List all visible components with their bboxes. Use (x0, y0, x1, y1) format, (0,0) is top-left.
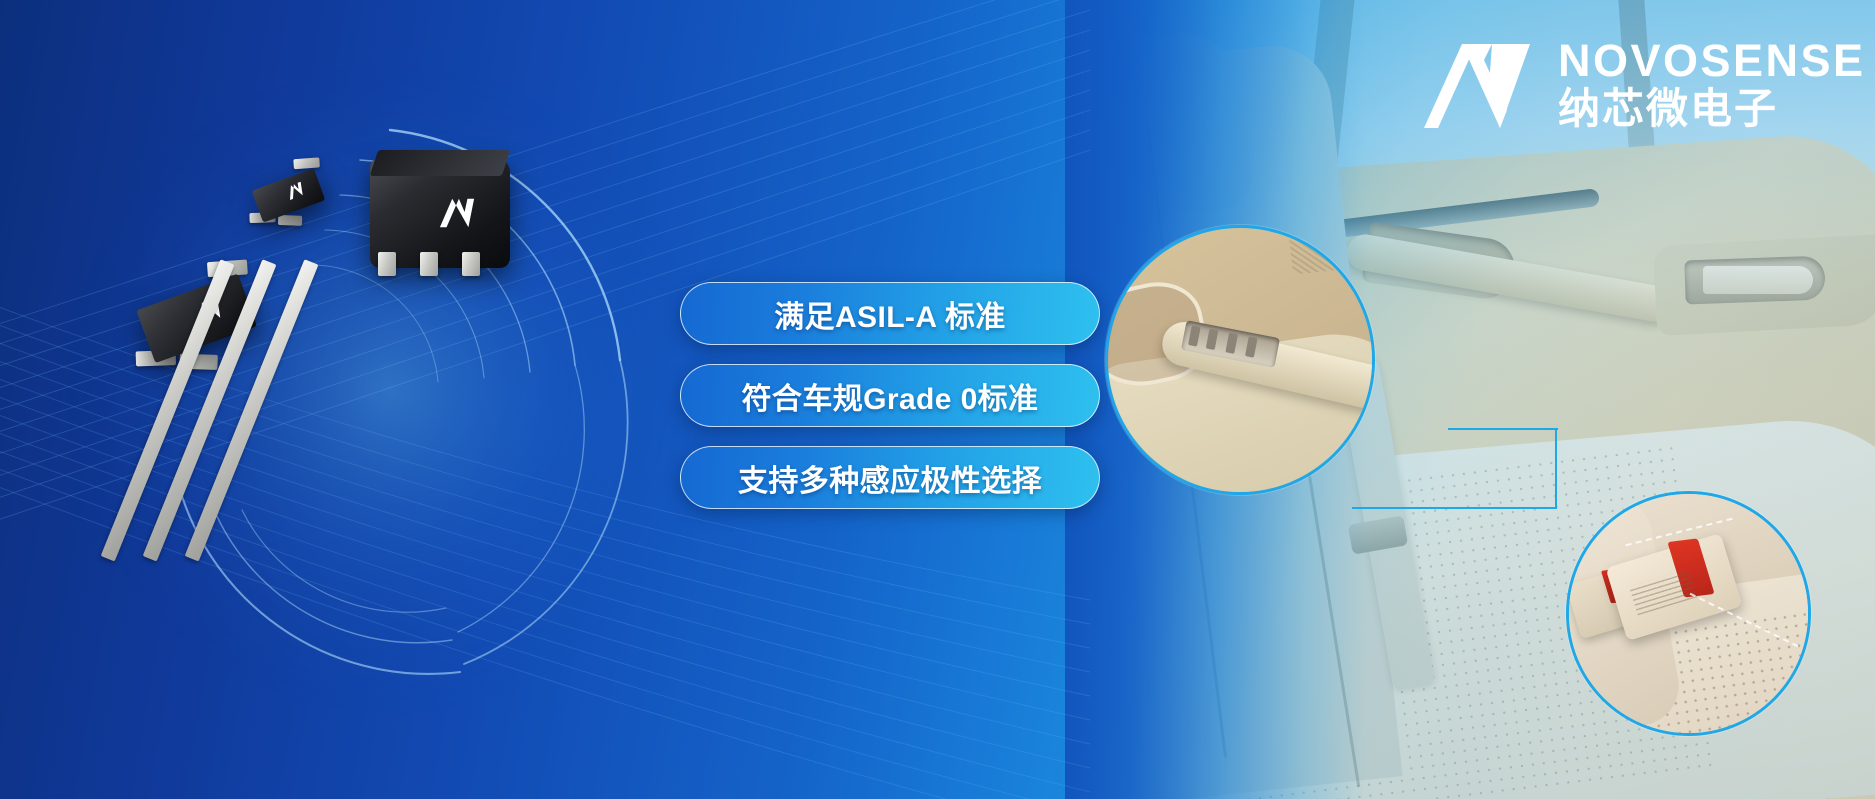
callout-leader-line (1352, 507, 1557, 509)
brand-name-en: NOVOSENSE (1558, 38, 1866, 83)
lead-shoulder (420, 252, 438, 276)
callout-leader-line (1448, 428, 1558, 430)
callout-leader-line (1555, 430, 1557, 509)
brand-wordmark: NOVOSENSE 纳芯微电子 (1558, 38, 1866, 131)
door-speaker-grille (1288, 225, 1375, 275)
feature-badge-label: 支持多种感应极性选择 (738, 456, 1042, 500)
package-lead (278, 215, 302, 226)
callout-image (1105, 225, 1375, 495)
novosense-brand-logo[interactable]: NOVOSENSE 纳芯微电子 (1418, 38, 1866, 131)
callout-seatbelt-buckle (1566, 491, 1811, 736)
feature-badge-list: 满足ASIL-A 标准 符合车规Grade 0标准 支持多种感应极性选择 (680, 282, 1110, 528)
package-lead (293, 157, 320, 169)
callout-door-handle (1105, 225, 1375, 495)
feature-badge-label: 符合车规Grade 0标准 (742, 374, 1039, 418)
package-top-bevel (370, 150, 510, 176)
hall-sensor-product-banner: 满足ASIL-A 标准 符合车规Grade 0标准 支持多种感应极性选择 NOV… (0, 0, 1875, 799)
feature-badge-label: 满足ASIL-A 标准 (774, 292, 1006, 336)
feature-badge-asil-a[interactable]: 满足ASIL-A 标准 (680, 282, 1100, 345)
feature-badge-grade-0[interactable]: 符合车规Grade 0标准 (680, 364, 1100, 427)
feature-badge-polarity[interactable]: 支持多种感应极性选择 (680, 446, 1100, 509)
lead-shoulder (462, 252, 480, 276)
lead-shoulder (378, 252, 396, 276)
brand-name-cn: 纳芯微电子 (1558, 87, 1866, 131)
novosense-n-logo-icon (1418, 40, 1536, 130)
callout-image (1566, 491, 1811, 736)
novosense-n-logo-icon (438, 198, 476, 228)
